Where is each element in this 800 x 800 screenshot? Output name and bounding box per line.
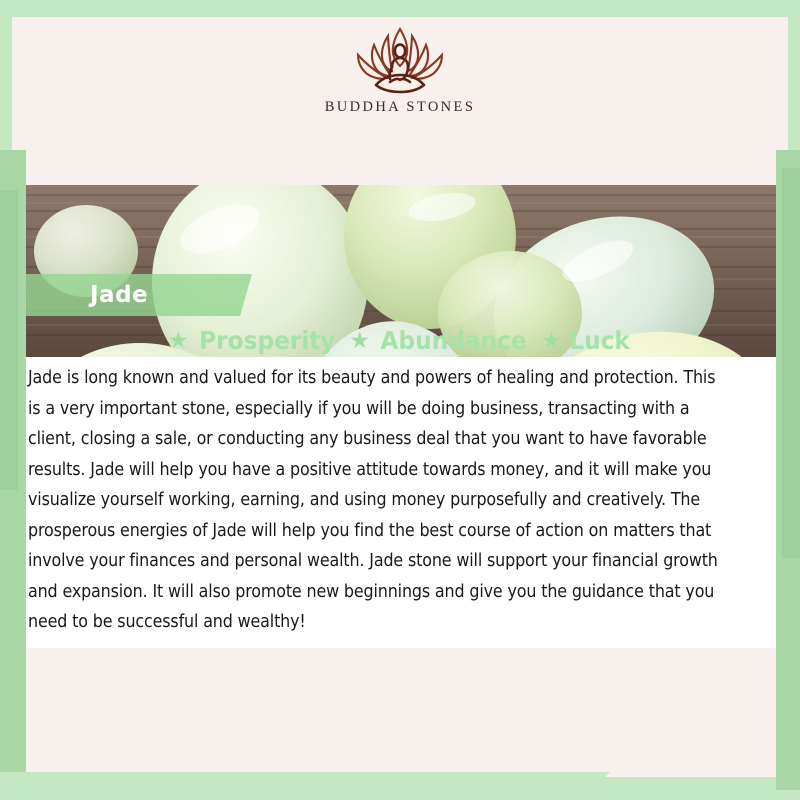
- benefit-label: Prosperity: [199, 326, 335, 355]
- benefit-label: Luck: [569, 326, 630, 355]
- bottom-green-bar: [0, 772, 610, 800]
- brand-logo: BUDDHA STONES: [12, 17, 788, 127]
- benefit-item: ★ Prosperity: [168, 326, 340, 355]
- stone-name-band: Jade: [12, 274, 252, 316]
- benefit-label: Abundance: [380, 326, 526, 355]
- benefit-item: ★ Luck: [541, 326, 632, 355]
- left-green-bar-accent: [0, 190, 18, 490]
- benefits-row: ★ Prosperity ★ Abundance ★ Luck: [12, 323, 788, 357]
- stone-description: Jade is long known and valued for its be…: [26, 357, 788, 648]
- benefit-item: ★ Abundance: [349, 326, 532, 355]
- lotus-meditation-icon: [336, 23, 464, 97]
- brand-name: BUDDHA STONES: [325, 99, 476, 116]
- top-green-banner: [0, 0, 800, 18]
- stone-description-text: Jade is long known and valued for its be…: [28, 363, 722, 638]
- right-green-bar-accent: [782, 168, 800, 558]
- star-icon: ★: [541, 329, 562, 352]
- star-icon: ★: [349, 329, 370, 352]
- stone-name-label: Jade: [90, 282, 148, 308]
- star-icon: ★: [168, 329, 189, 352]
- infographic-page: BUDDHA STONES: [0, 0, 800, 800]
- content-card: BUDDHA STONES: [12, 17, 788, 777]
